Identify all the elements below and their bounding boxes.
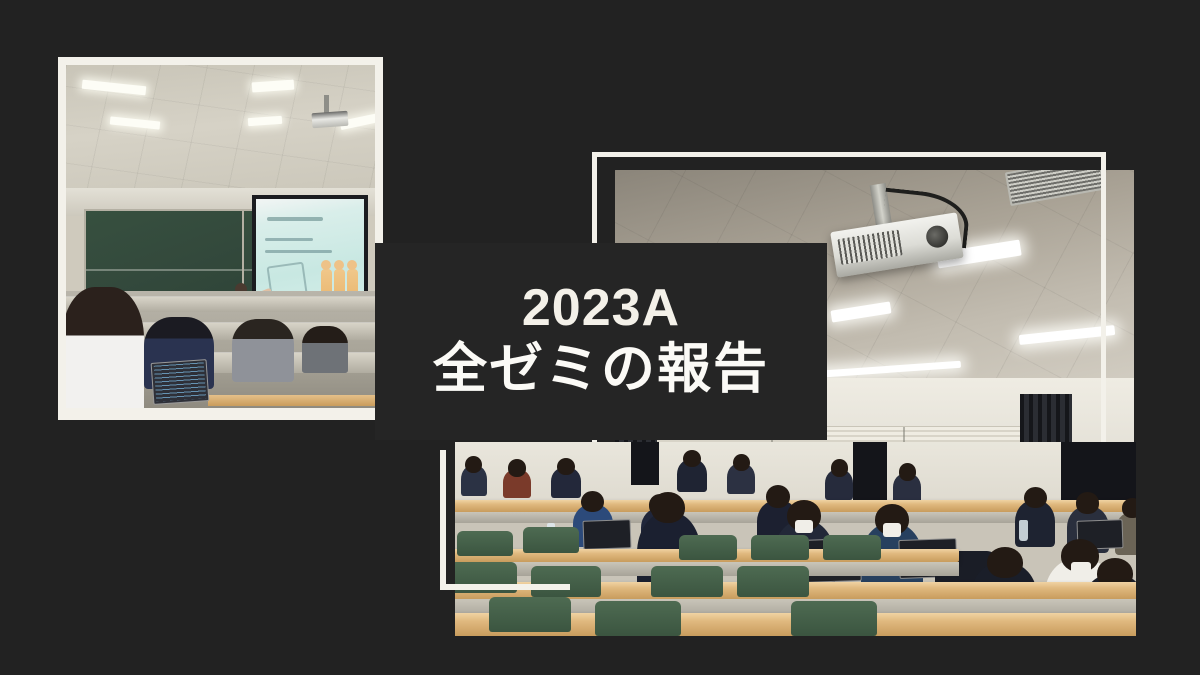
student-head <box>683 450 701 467</box>
student-head <box>766 485 790 508</box>
photo-lecturer-image <box>66 65 375 408</box>
face-mask <box>1071 562 1091 578</box>
title-card: 2023A 全ゼミの報告 <box>375 243 827 440</box>
slide-figure-head <box>334 260 344 270</box>
laptop-screen <box>583 519 632 550</box>
doorway-dark <box>853 442 887 500</box>
title-main-label: 全ゼミの報告 <box>433 337 769 402</box>
projector-grill <box>837 230 902 265</box>
face-mask <box>883 523 901 537</box>
student-head <box>899 463 916 480</box>
title-year-label: 2023A <box>522 281 680 336</box>
projector-icon <box>312 111 349 128</box>
student-head <box>1122 498 1136 517</box>
slide-text-line <box>265 238 314 241</box>
chair <box>457 531 513 556</box>
face-mask <box>795 520 813 534</box>
chair <box>651 566 723 597</box>
student-silhouette <box>66 287 144 408</box>
student-head <box>831 459 848 476</box>
chair <box>531 566 601 597</box>
chair <box>823 535 881 560</box>
student-head <box>581 491 604 512</box>
seating-area <box>66 291 375 408</box>
student-head <box>557 458 575 475</box>
slide-title-line <box>267 217 323 221</box>
photo-lecturer <box>58 57 383 420</box>
presentation-slide: 2023A 全ゼミの報告 <box>0 0 1200 675</box>
chair <box>523 527 579 552</box>
slide-figure-head <box>347 260 357 270</box>
chair <box>737 566 809 597</box>
student-head <box>1024 487 1047 508</box>
student-silhouette <box>232 319 294 382</box>
slide-figure-head <box>321 260 331 270</box>
chair <box>489 597 571 632</box>
slide-text-line <box>265 250 332 253</box>
chair <box>595 601 681 636</box>
water-bottle <box>1019 520 1028 541</box>
student-head <box>651 492 685 523</box>
photo-students-seated <box>455 442 1136 636</box>
desk-surface <box>208 395 375 405</box>
chair <box>455 562 517 593</box>
chair <box>751 535 809 560</box>
doorway-dark <box>1061 442 1136 508</box>
laptop-screen <box>151 359 210 405</box>
student-head <box>508 459 526 476</box>
projector-lens <box>925 224 950 249</box>
student-head <box>1076 492 1099 513</box>
student-head <box>733 454 750 471</box>
chair <box>679 535 737 560</box>
student-head <box>987 547 1023 578</box>
doorway-dark <box>631 442 659 485</box>
student-silhouette <box>302 326 348 373</box>
chair <box>791 601 877 636</box>
student-head <box>465 456 482 473</box>
